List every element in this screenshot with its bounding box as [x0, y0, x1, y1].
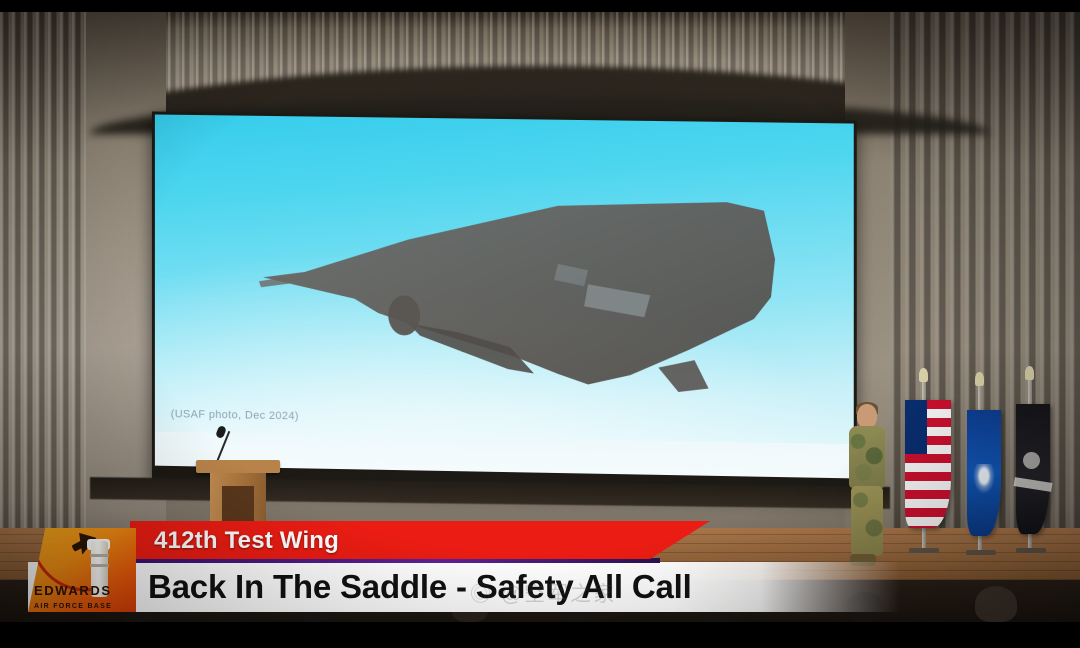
organization-label: 412th Test Wing	[154, 527, 339, 555]
flag-finial-af-icon	[975, 372, 984, 386]
flag-finial-us-icon	[919, 368, 928, 382]
projected-slide: (USAF photo, Dec 2024)	[155, 114, 854, 478]
united-states-flag	[905, 400, 951, 528]
us-flag-canton	[905, 400, 927, 454]
letterbox-top	[0, 0, 1080, 12]
air-force-emblem-icon	[973, 464, 995, 494]
briefer-uniform-torso	[849, 426, 885, 488]
briefer-head	[857, 404, 877, 428]
video-frame: (USAF photo, Dec 2024)	[0, 0, 1080, 648]
flag-finial-pow-icon	[1025, 366, 1034, 380]
pow-mia-silhouette-icon	[1023, 452, 1040, 469]
edwards-afb-logo-icon: EDWARDS AIR FORCE BASE	[28, 528, 136, 612]
aircraft-silhouette-icon	[259, 194, 804, 413]
logo-name: EDWARDS	[34, 583, 136, 598]
pow-mia-band	[1014, 477, 1053, 492]
lower-third-red-banner: 412th Test Wing	[130, 521, 710, 559]
podium-top	[196, 460, 280, 473]
air-force-flag	[967, 410, 1001, 536]
watermark: ◎ @空军之家	[470, 578, 616, 608]
pow-mia-flag	[1016, 404, 1050, 534]
logo-subtitle: AIR FORCE BASE	[34, 603, 136, 610]
logo-tower-line	[90, 554, 109, 557]
projection-screen: (USAF photo, Dec 2024)	[152, 111, 857, 494]
slide-caption: (USAF photo, Dec 2024)	[171, 408, 299, 422]
logo-tower-line	[90, 564, 109, 567]
letterbox-bottom	[0, 622, 1080, 648]
